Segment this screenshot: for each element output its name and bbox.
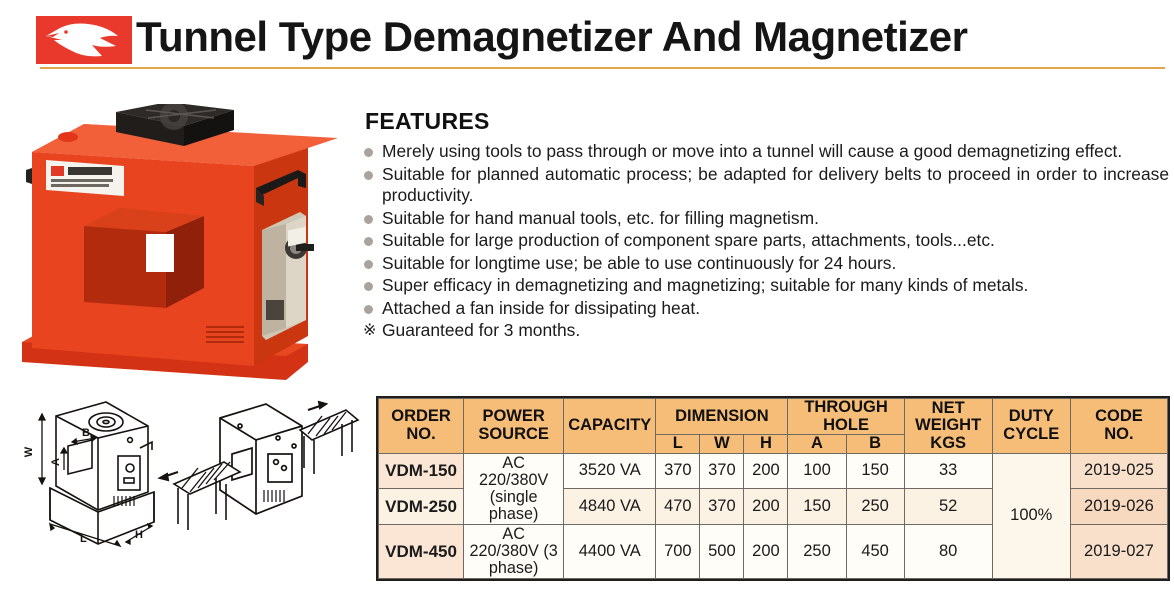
cell-dim-l: 700 bbox=[656, 525, 700, 579]
cell-hole-a: 100 bbox=[788, 453, 846, 489]
cell-code-no: 2019-026 bbox=[1070, 489, 1167, 525]
col-subheader-hole-b: B bbox=[846, 435, 904, 454]
cell-net-weight: 52 bbox=[904, 489, 992, 525]
cell-dim-h: 200 bbox=[744, 489, 788, 525]
specifications-table-container: ORDER NO. POWER SOURCE CAPACITY DIMENSIO… bbox=[378, 398, 1168, 579]
features-list: Merely using tools to pass through or mo… bbox=[363, 141, 1169, 342]
features-heading: FEATURES bbox=[365, 108, 1169, 135]
cell-order-no: VDM-150 bbox=[379, 453, 464, 489]
col-subheader-dim-h: H bbox=[744, 435, 788, 454]
feature-item: Suitable for hand manual tools, etc. for… bbox=[363, 208, 1169, 230]
col-header-dimension: DIMENSION bbox=[656, 399, 788, 435]
table-header-row-1: ORDER NO. POWER SOURCE CAPACITY DIMENSIO… bbox=[379, 399, 1168, 435]
col-header-code-no: CODE NO. bbox=[1070, 399, 1167, 454]
drawing-label-A: A bbox=[50, 458, 62, 466]
title-divider bbox=[40, 67, 1165, 69]
feature-item: Suitable for planned automatic process; … bbox=[363, 164, 1169, 207]
bullet-icon bbox=[364, 237, 373, 246]
feature-item: Attached a fan inside for dissipating he… bbox=[363, 298, 1169, 320]
dimension-drawings: W A B L H bbox=[2, 392, 374, 588]
feature-text: Merely using tools to pass through or mo… bbox=[382, 141, 1169, 163]
cell-duty-cycle: 100% bbox=[992, 453, 1070, 579]
feature-text: Guaranteed for 3 months. bbox=[382, 320, 580, 340]
isometric-unit-drawing bbox=[50, 402, 154, 544]
bullet-icon bbox=[364, 305, 373, 314]
cell-capacity: 4840 VA bbox=[564, 489, 656, 525]
feature-text: Suitable for hand manual tools, etc. for… bbox=[382, 208, 819, 228]
drawing-label-B: B bbox=[82, 427, 90, 439]
col-header-duty-cycle: DUTY CYCLE bbox=[992, 399, 1070, 454]
feature-text: Suitable for large production of compone… bbox=[382, 230, 995, 250]
specifications-table-body: VDM-150AC 220/380V (single phase)3520 VA… bbox=[379, 453, 1168, 579]
cell-order-no: VDM-450 bbox=[379, 525, 464, 579]
feature-item: Super efficacy in demagnetizing and magn… bbox=[363, 275, 1169, 297]
specifications-table: ORDER NO. POWER SOURCE CAPACITY DIMENSIO… bbox=[378, 398, 1168, 579]
bullet-icon bbox=[364, 171, 373, 180]
cell-net-weight: 80 bbox=[904, 525, 992, 579]
feature-item: ※Guaranteed for 3 months. bbox=[363, 320, 1169, 342]
cell-code-no: 2019-025 bbox=[1070, 453, 1167, 489]
cell-hole-b: 150 bbox=[846, 453, 904, 489]
cell-dim-w: 500 bbox=[700, 525, 744, 579]
col-subheader-dim-w: W bbox=[700, 435, 744, 454]
cell-hole-a: 150 bbox=[788, 489, 846, 525]
product-nameplate bbox=[46, 160, 124, 196]
cell-capacity: 3520 VA bbox=[564, 453, 656, 489]
feature-text: Suitable for planned automatic process; … bbox=[382, 164, 1169, 207]
conveyor-setup-drawing bbox=[220, 404, 302, 514]
demagnetizer-product-image bbox=[8, 104, 360, 390]
cell-dim-h: 200 bbox=[744, 453, 788, 489]
features-section: FEATURES Merely using tools to pass thro… bbox=[363, 108, 1169, 343]
feature-item: Suitable for longtime use; be able to us… bbox=[363, 253, 1169, 275]
product-photo bbox=[8, 104, 360, 390]
cell-capacity: 4400 VA bbox=[564, 525, 656, 579]
feature-text: Super efficacy in demagnetizing and magn… bbox=[382, 275, 1028, 295]
cell-hole-a: 250 bbox=[788, 525, 846, 579]
technical-drawings: W A B L H bbox=[2, 392, 374, 588]
col-header-power-source: POWER SOURCE bbox=[464, 399, 564, 454]
page-header: Tunnel Type Demagnetizer And Magnetizer bbox=[0, 0, 1174, 78]
col-header-capacity: CAPACITY bbox=[564, 399, 656, 454]
feature-text: Attached a fan inside for dissipating he… bbox=[382, 298, 700, 318]
cell-dim-l: 470 bbox=[656, 489, 700, 525]
cell-power-source: AC 220/380V (single phase) bbox=[464, 453, 564, 525]
reference-mark-icon: ※ bbox=[363, 320, 376, 342]
col-header-order-no: ORDER NO. bbox=[379, 399, 464, 454]
bullet-icon bbox=[364, 215, 373, 224]
cell-power-source: AC 220/380V (3 phase) bbox=[464, 525, 564, 579]
cell-hole-b: 450 bbox=[846, 525, 904, 579]
cell-dim-h: 200 bbox=[744, 525, 788, 579]
col-header-net-weight: NET WEIGHT KGS bbox=[904, 399, 992, 454]
cell-dim-w: 370 bbox=[700, 489, 744, 525]
feature-item: Merely using tools to pass through or mo… bbox=[363, 141, 1169, 163]
cell-net-weight: 33 bbox=[904, 453, 992, 489]
feature-item: Suitable for large production of compone… bbox=[363, 230, 1169, 252]
bullet-icon bbox=[364, 260, 373, 269]
cell-dim-w: 370 bbox=[700, 453, 744, 489]
cell-dim-l: 370 bbox=[656, 453, 700, 489]
col-header-through-hole: THROUGH HOLE bbox=[788, 399, 904, 435]
cell-hole-b: 250 bbox=[846, 489, 904, 525]
eagle-head-logo bbox=[36, 16, 132, 64]
drawing-label-H: H bbox=[135, 529, 143, 541]
drawing-label-L: L bbox=[80, 533, 87, 545]
feature-text: Suitable for longtime use; be able to us… bbox=[382, 253, 896, 273]
page-title: Tunnel Type Demagnetizer And Magnetizer bbox=[136, 8, 968, 66]
table-row: VDM-150AC 220/380V (single phase)3520 VA… bbox=[379, 453, 1168, 489]
bullet-icon bbox=[364, 282, 373, 291]
cell-order-no: VDM-250 bbox=[379, 489, 464, 525]
cell-code-no: 2019-027 bbox=[1070, 525, 1167, 579]
col-subheader-dim-l: L bbox=[656, 435, 700, 454]
eagle-head-icon bbox=[36, 16, 132, 64]
col-subheader-hole-a: A bbox=[788, 435, 846, 454]
drawing-label-W: W bbox=[23, 446, 35, 457]
bullet-icon bbox=[364, 148, 373, 157]
